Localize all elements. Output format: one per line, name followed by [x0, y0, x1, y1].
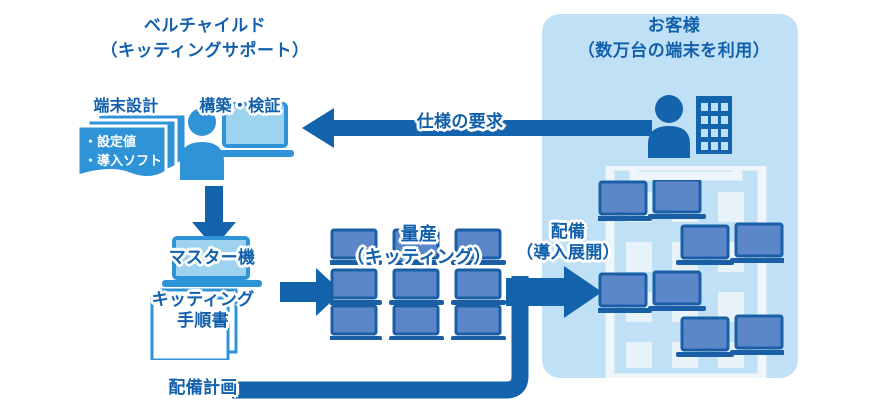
deployment-plan-line: [232, 276, 532, 408]
customer-heading: お客様 （数万台の端末を利用）: [560, 14, 788, 63]
deployment-plan-label: 配備計画: [148, 378, 258, 399]
mass-production-label: 量産 （キッティング）: [324, 224, 514, 269]
device-design-label: 端末設計: [78, 96, 174, 116]
master-machine-label: マスター機: [140, 248, 284, 269]
customer-person-icon: [644, 92, 736, 158]
diagram-canvas: ベルチャイルド （キッティングサポート） お客様 （数万台の端末を利用） 仕様の…: [0, 0, 870, 416]
spec-request-label: 仕様の要求: [370, 112, 550, 133]
vendor-heading: ベルチャイルド （キッティングサポート）: [60, 14, 350, 63]
build-verify-label: 構築・検証: [186, 96, 294, 116]
deployment-label: 配備 （導入展開）: [508, 222, 628, 265]
deployment-arrow: [506, 266, 602, 318]
customer-laptop-group: [598, 180, 784, 378]
device-design-items: ・設定値 ・導入ソフト: [84, 134, 176, 172]
